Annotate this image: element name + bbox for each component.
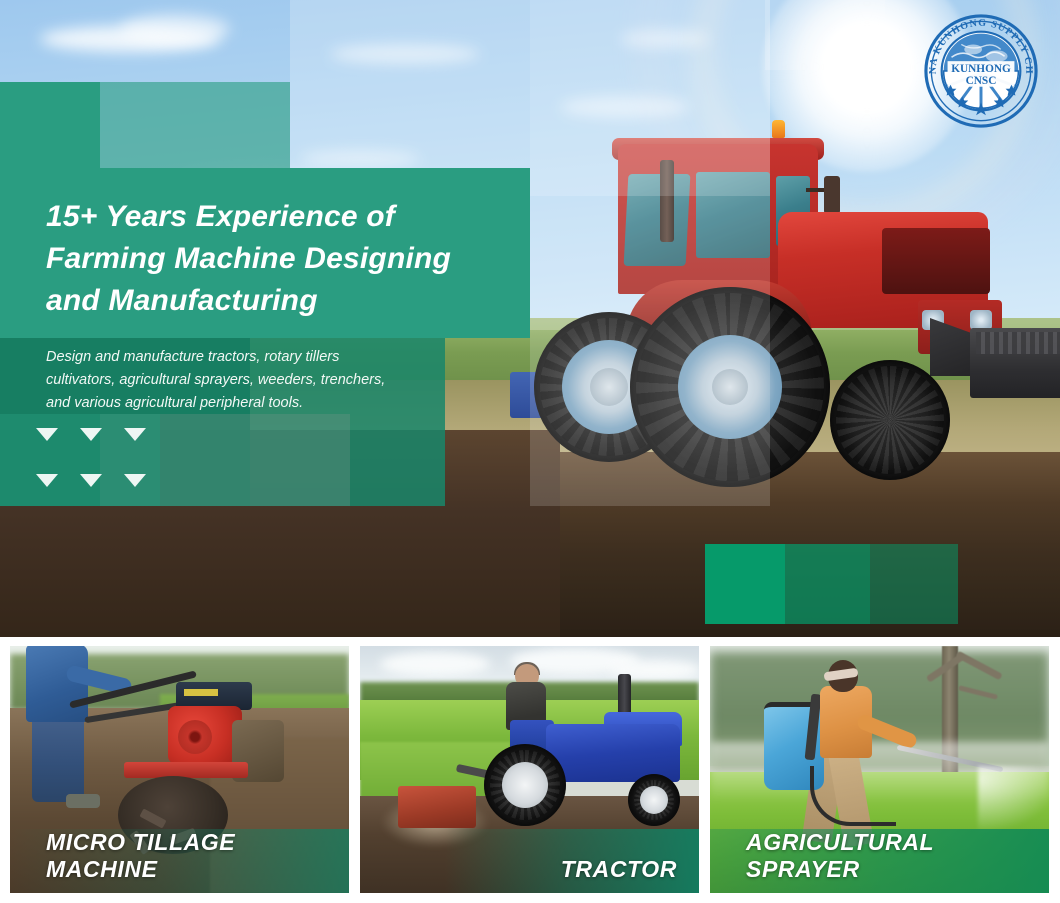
down-triangle-icon [80,428,102,441]
logo-center-line1: KUNHONG [951,63,1011,75]
product-card-micro-tillage[interactable]: MICRO TILLAGE MACHINE [10,646,349,893]
card-label-micro-tillage: MICRO TILLAGE MACHINE [10,829,349,883]
tractor-body [546,724,680,782]
hero-section: 15+ Years Experience of Farming Machine … [0,0,1060,637]
hero-subtitle: Design and manufacture tractors, rotary … [46,346,456,415]
triangle-decoration-grid [36,428,144,500]
rotary-tiller-implement [398,786,476,828]
operator-torso [26,646,88,722]
down-triangle-icon [124,474,146,487]
tiller-fender [124,762,248,778]
headline-line-2: Farming Machine Designing [46,238,526,280]
down-triangle-icon [36,428,58,441]
card-label-sprayer: AGRICULTURAL SPRAYER [710,829,1049,883]
tractor-tyre [830,360,950,480]
down-triangle-icon [124,428,146,441]
decor-block-white [530,196,770,506]
product-card-sprayer[interactable]: AGRICULTURAL SPRAYER [710,646,1049,893]
down-triangle-icon [36,474,58,487]
subtitle-line-3: and various agricultural peripheral tool… [46,392,456,415]
decor-block-white [765,0,885,70]
subtitle-line-1: Design and manufacture tractors, rotary … [46,346,456,369]
decor-block-green [870,544,958,624]
promo-banner: 15+ Years Experience of Farming Machine … [0,0,1060,903]
logo-seal-icon: KUNHONG CNSC CHINA KUNHONG SUPPLY CHAIN [922,12,1040,130]
product-card-strip: MICRO TILLAGE MACHINE [0,646,1060,903]
tiller-decal [184,689,218,696]
decor-block-green [785,544,870,624]
hood-side-panel [882,228,990,294]
operator-shoe [66,794,100,808]
spray-mist [978,766,1049,832]
side-mirror [824,176,840,214]
operator-legs [32,716,84,802]
card-label-tractor: TRACTOR [360,856,699,883]
tiller-recoil-starter [178,720,212,754]
decor-block-white [530,0,770,196]
company-logo[interactable]: KUNHONG CNSC CHINA KUNHONG SUPPLY CHAIN [922,12,1040,130]
decor-block-green [705,544,785,624]
product-card-tractor[interactable]: TRACTOR [360,646,699,893]
headline-line-1: 15+ Years Experience of [46,196,526,238]
hero-headline: 15+ Years Experience of Farming Machine … [46,196,526,322]
down-triangle-icon [80,474,102,487]
wheel-rim [502,762,548,808]
headlamp [970,310,992,330]
cloud [380,652,490,676]
implement-ridges [976,332,1060,354]
cloud [120,14,230,44]
subtitle-line-2: cultivators, agricultural sprayers, weed… [46,369,456,392]
headline-line-3: and Manufacturing [46,280,526,322]
logo-center-line2: CNSC [966,75,997,87]
wheel-rim [640,786,668,814]
beacon-light [772,120,785,138]
